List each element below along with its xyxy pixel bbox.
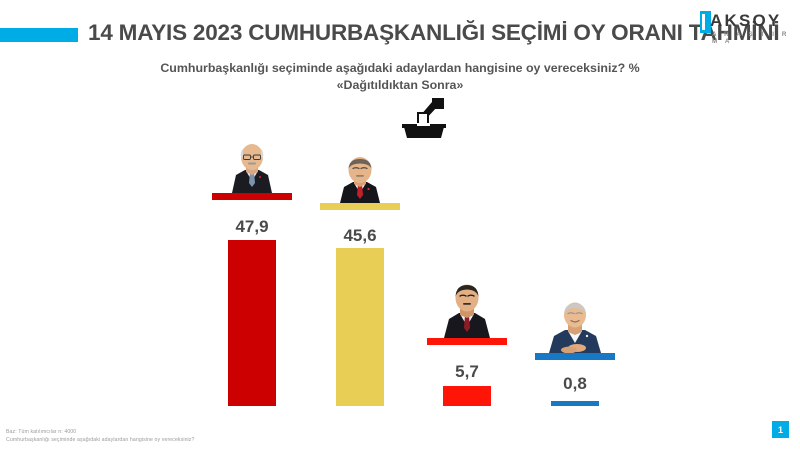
candidate-photo-3 <box>427 282 507 345</box>
bar-1 <box>228 240 276 406</box>
bar-value-1: 47,9 <box>202 217 302 237</box>
footer-note: Baz: Tüm katılımcılar n: 4000 Cumhurbaşk… <box>6 428 195 444</box>
slide-canvas: 14 MAYIS 2023 CUMHURBAŞKANLIĞI SEÇİMİ OY… <box>0 0 800 450</box>
photo-underline-4 <box>535 353 615 360</box>
photo-underline-2 <box>320 203 400 210</box>
page-number-badge: 1 <box>772 421 789 438</box>
candidate-photo-1 <box>212 141 292 200</box>
bar-3 <box>443 386 491 406</box>
footer-line-2: Cumhurbaşkanlığı seçiminde aşağıdaki ada… <box>6 436 195 444</box>
bar-4 <box>551 401 599 406</box>
candidate-photo-4 <box>535 300 615 360</box>
bar-value-4: 0,8 <box>525 374 625 394</box>
bar-value-2: 45,6 <box>310 226 410 246</box>
photo-underline-3 <box>427 338 507 345</box>
candidate-photo-2 <box>320 155 400 210</box>
bar-chart: 47,9 45,6 <box>0 0 800 450</box>
photo-underline-1 <box>212 193 292 200</box>
footer-line-1: Baz: Tüm katılımcılar n: 4000 <box>6 428 195 436</box>
bar-value-3: 5,7 <box>417 362 517 382</box>
bar-2 <box>336 248 384 406</box>
